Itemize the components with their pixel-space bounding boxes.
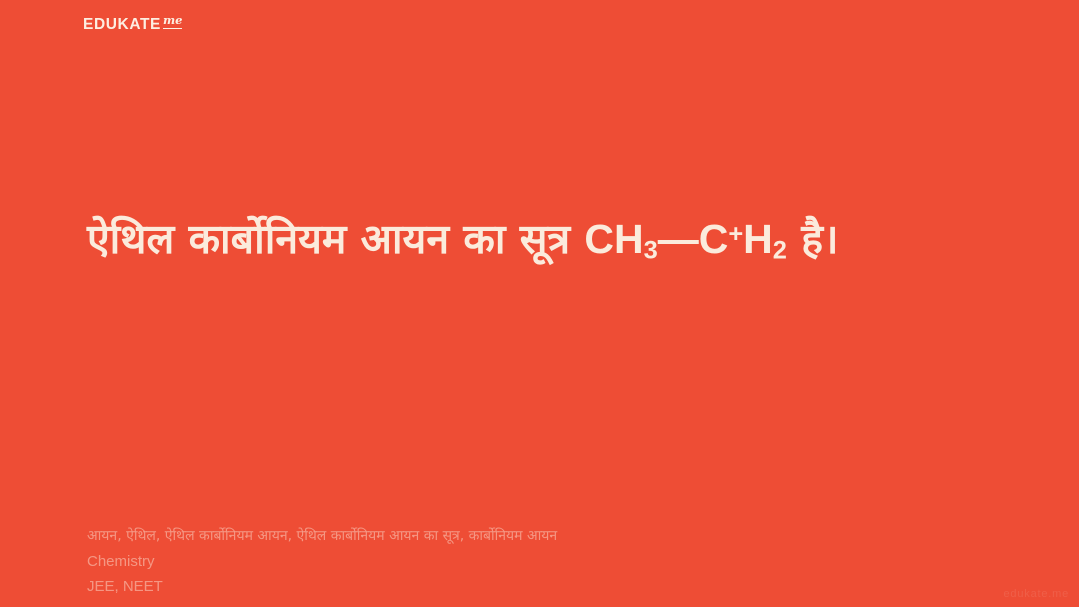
brand-logo-wordmark: EDUKATE bbox=[83, 17, 161, 33]
footer-meta: आयन, ऐथिल, ऐथिल कार्बोनियम आयन, ऐथिल कार… bbox=[87, 524, 557, 599]
formula-sub-2: 2 bbox=[773, 237, 787, 265]
corner-watermark: edukate.me bbox=[1004, 588, 1069, 600]
chemical-formula: CH3—C+H2 bbox=[584, 216, 787, 262]
formula-ch: CH bbox=[584, 216, 643, 262]
page-title: ऐथिल कार्बोनियम आयन का सूत्र CH3—C+H2 है… bbox=[87, 213, 1019, 265]
headline-text-after: है। bbox=[787, 215, 839, 263]
footer-exams: JEE, NEET bbox=[87, 574, 557, 599]
formula-h: H bbox=[743, 216, 773, 262]
footer-tags: आयन, ऐथिल, ऐथिल कार्बोनियम आयन, ऐथिल कार… bbox=[87, 524, 557, 549]
formula-bond-dash: — bbox=[658, 216, 699, 262]
brand-logo[interactable]: EDUKATE me bbox=[83, 17, 182, 33]
formula-sub-3: 3 bbox=[644, 237, 658, 265]
brand-logo-suffix: me bbox=[163, 15, 183, 29]
formula-sup-plus: + bbox=[728, 220, 743, 248]
slide-canvas: EDUKATE me ऐथिल कार्बोनियम आयन का सूत्र … bbox=[0, 0, 1079, 607]
footer-subject: Chemistry bbox=[87, 549, 557, 574]
headline-text-before: ऐथिल कार्बोनियम आयन का सूत्र bbox=[87, 215, 584, 263]
formula-c: C bbox=[699, 216, 729, 262]
